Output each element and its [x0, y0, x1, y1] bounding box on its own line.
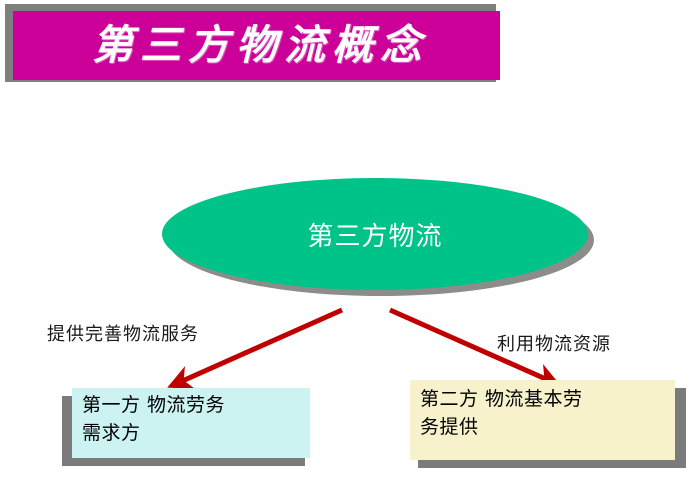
page-title: 第三方物流概念	[13, 11, 500, 80]
second-party-line-1: 第二方 物流基本劳	[420, 386, 670, 414]
annotation-left: 提供完善物流服务	[47, 320, 199, 346]
second-party-line-2: 务提供	[420, 414, 670, 442]
slide-canvas: 第三方物流概念 第三方物流 提供完善物流服务 利用物流资源 第一方 物流劳务 需…	[0, 0, 692, 478]
first-party-box-text: 第一方 物流劳务 需求方	[82, 392, 304, 447]
first-party-line-2: 需求方	[82, 420, 304, 448]
center-node-label: 第三方物流	[162, 178, 588, 290]
annotation-right: 利用物流资源	[497, 330, 611, 356]
second-party-box-text: 第二方 物流基本劳 务提供	[420, 386, 670, 441]
first-party-line-1: 第一方 物流劳务	[82, 392, 304, 420]
arrow-to-first-party	[180, 310, 342, 382]
